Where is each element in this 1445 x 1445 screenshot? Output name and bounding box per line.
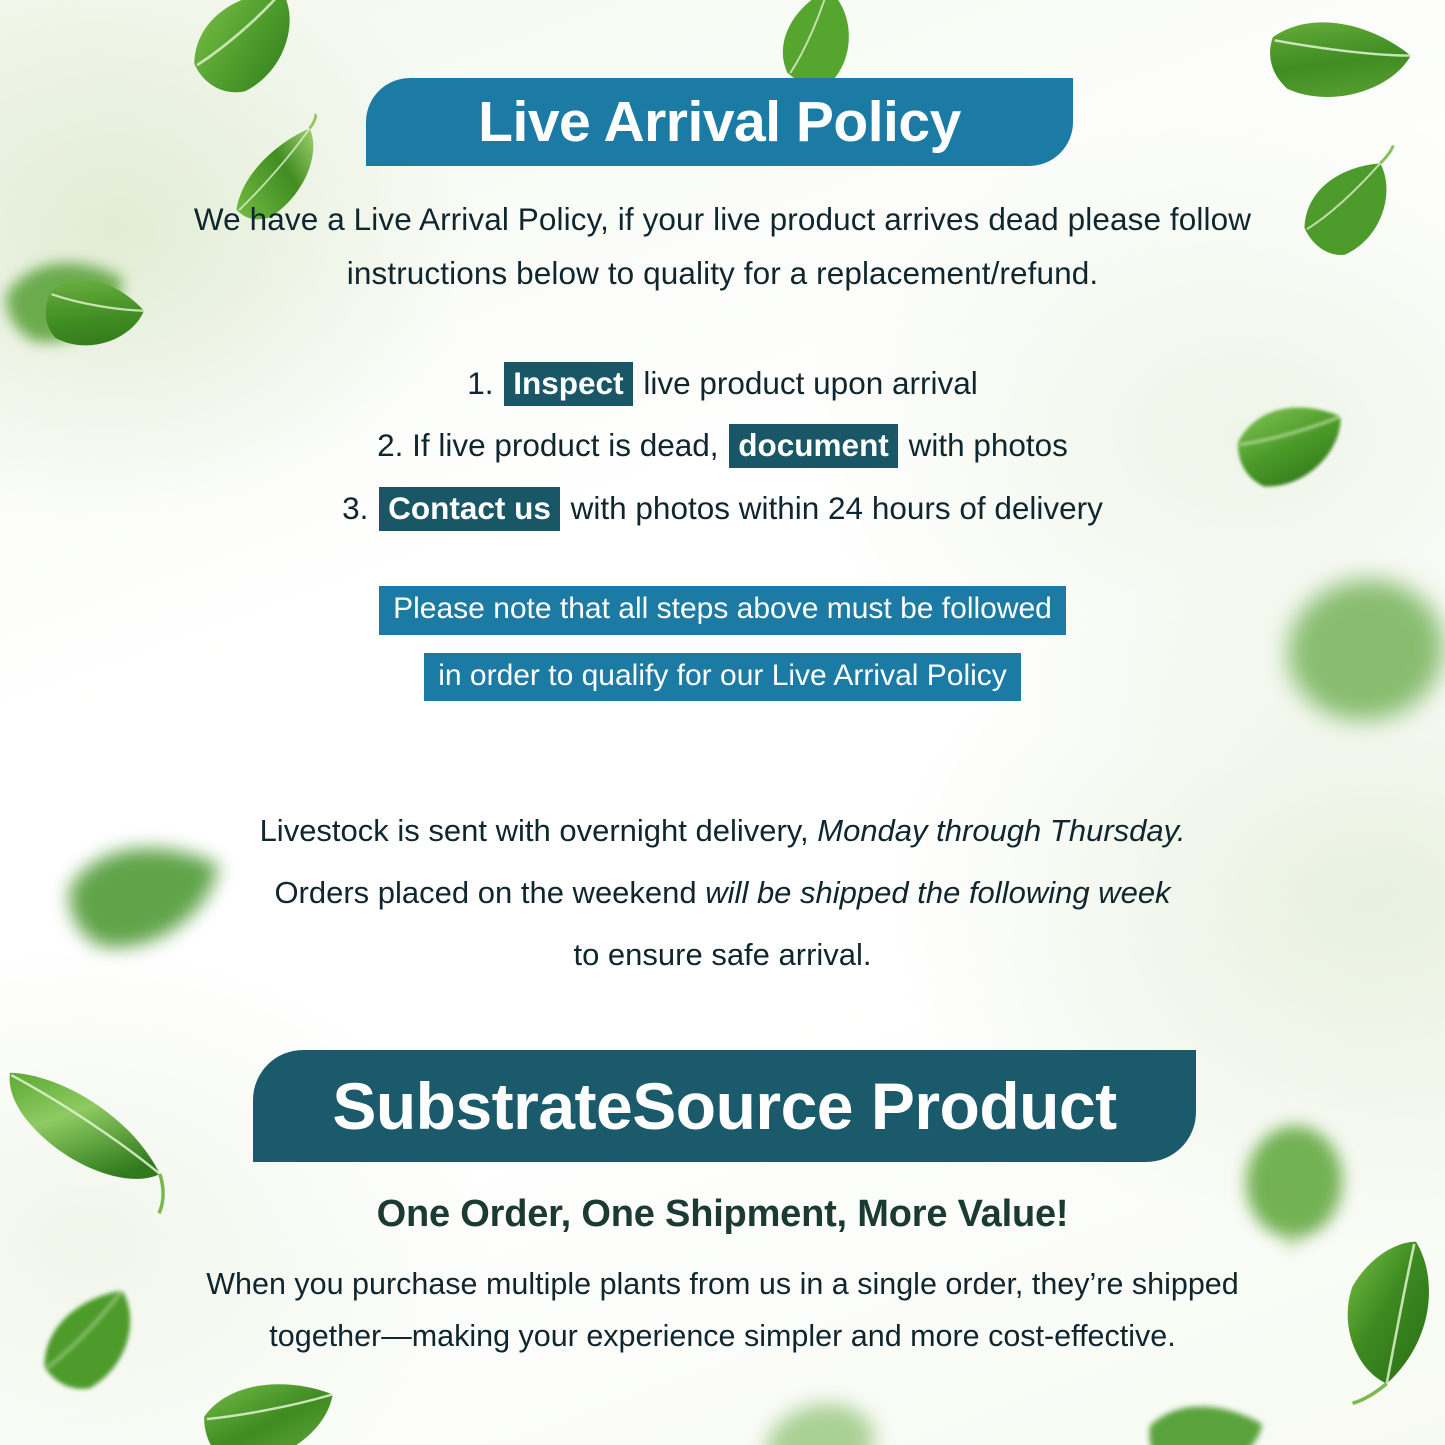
shipping-schedule-paragraph: Livestock is sent with overnight deliver…	[0, 800, 1445, 986]
step-text-2-before: If live product is dead,	[412, 427, 718, 463]
shipping-line-1-plain: Livestock is sent with overnight deliver…	[260, 813, 809, 848]
policy-note-line-1: Please note that all steps above must be…	[379, 586, 1066, 635]
note-spacer	[0, 635, 1445, 653]
step-highlight-contact-us: Contact us	[379, 487, 560, 531]
policy-note-block: Please note that all steps above must be…	[0, 586, 1445, 701]
shipping-line-1-italic: Monday through Thursday.	[817, 813, 1185, 848]
step-number-3: 3.	[342, 490, 368, 526]
shipping-line-2: Orders placed on the weekend will be shi…	[0, 862, 1445, 924]
shipping-line-3: to ensure safe arrival.	[0, 924, 1445, 986]
value-proposition-heading: One Order, One Shipment, More Value!	[0, 1193, 1445, 1236]
live-arrival-policy-banner: Live Arrival Policy	[366, 78, 1073, 166]
step-text-1: live product upon arrival	[643, 365, 977, 401]
step-highlight-inspect: Inspect	[504, 362, 632, 406]
intro-line-2: instructions below to quality for a repl…	[0, 246, 1445, 300]
policy-step-1: 1. Inspect live product upon arrival	[0, 352, 1445, 414]
policy-step-2: 2. If live product is dead, document wit…	[0, 414, 1445, 476]
step-number-2: 2.	[377, 427, 403, 463]
step-highlight-document: document	[729, 424, 898, 468]
bundled-shipping-paragraph: When you purchase multiple plants from u…	[0, 1258, 1445, 1363]
closing-line-1: When you purchase multiple plants from u…	[0, 1258, 1445, 1310]
intro-paragraph: We have a Live Arrival Policy, if your l…	[0, 192, 1445, 300]
policy-note-line-2: in order to qualify for our Live Arrival…	[424, 653, 1021, 702]
substrate-source-product-title: SubstrateSource Product	[332, 1068, 1116, 1144]
intro-line-1: We have a Live Arrival Policy, if your l…	[0, 192, 1445, 246]
shipping-line-2-plain: Orders placed on the weekend	[274, 875, 696, 910]
shipping-line-1: Livestock is sent with overnight deliver…	[0, 800, 1445, 862]
step-text-2-after: with photos	[909, 427, 1068, 463]
substrate-source-product-banner: SubstrateSource Product	[253, 1050, 1196, 1162]
closing-line-2: together—making your experience simpler …	[0, 1310, 1445, 1362]
policy-steps-list: 1. Inspect live product upon arrival 2. …	[0, 352, 1445, 539]
step-number-1: 1.	[467, 365, 493, 401]
policy-step-3: 3. Contact us with photos within 24 hour…	[0, 477, 1445, 539]
shipping-line-2-italic: will be shipped the following week	[705, 875, 1170, 910]
step-text-3: with photos within 24 hours of delivery	[571, 490, 1103, 526]
live-arrival-policy-page: Live Arrival Policy We have a Live Arriv…	[0, 0, 1445, 1445]
live-arrival-policy-title: Live Arrival Policy	[478, 89, 961, 155]
